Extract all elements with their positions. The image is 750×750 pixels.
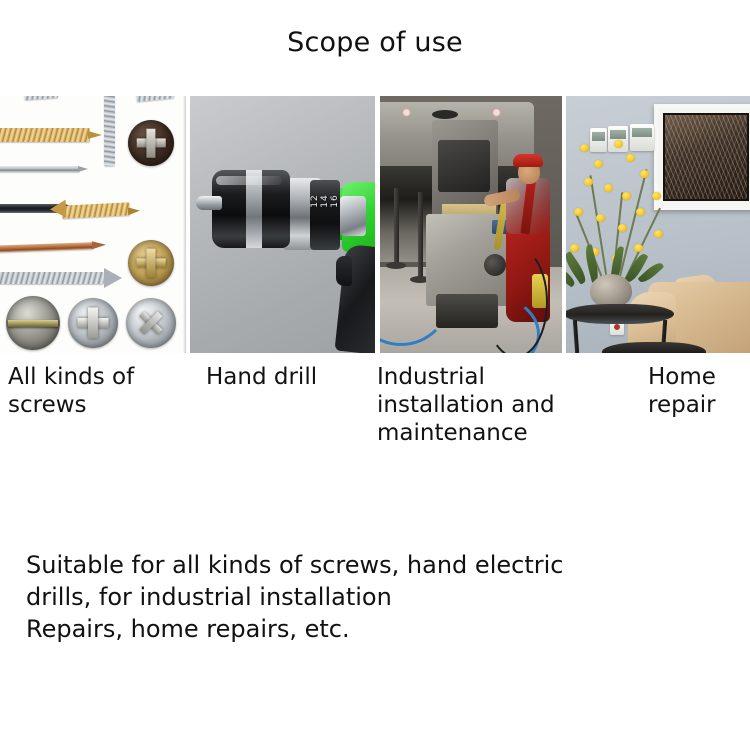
drill-torque-marks: 12 14 16 (310, 190, 340, 212)
caption-hand-drill: Hand drill (206, 363, 376, 391)
orchid-blossom (654, 230, 663, 238)
panel-all-kinds-of-screws (0, 96, 186, 353)
drum-indicator-right (492, 108, 501, 117)
drill-trigger (336, 256, 352, 286)
artwork-canvas (663, 113, 749, 201)
panel-home-repair (566, 96, 750, 353)
copper-nail-tip (92, 241, 106, 249)
drum-indicator-left (402, 108, 411, 117)
description-line-1: Suitable for all kinds of screws, hand e… (26, 549, 726, 581)
dark-phillips-screw-head (128, 120, 174, 166)
orchid-blossom (634, 244, 643, 252)
side-table-top (566, 304, 674, 324)
orchid-blossom (596, 214, 605, 222)
black-power-cable (484, 246, 548, 353)
silver-drywall-screw-shaft (0, 272, 104, 284)
panel-hand-drill: 12 14 16 (190, 96, 375, 353)
drill-bit-nose (196, 196, 222, 210)
description-block: Suitable for all kinds of screws, hand e… (26, 549, 726, 645)
orchid-blossom (614, 140, 623, 148)
wall-thermostat-left[interactable] (608, 126, 628, 152)
orchid-blossom (580, 144, 589, 152)
switch-screen (592, 132, 605, 141)
stone-vase (590, 274, 632, 308)
caption-all-kinds-of-screws: All kinds of screws (8, 363, 188, 419)
framed-artwork (654, 104, 750, 210)
silver-drywall-screw-head (104, 268, 122, 288)
slot-recess (8, 320, 58, 327)
brass-flat-head-screw-tip (128, 207, 140, 216)
thermostat-left-screen (610, 130, 626, 139)
orchid-blossom (626, 154, 635, 162)
panel-1-right-edge (183, 96, 186, 353)
brass-flat-head-screw-head (50, 200, 67, 219)
drill-chrome-housing (340, 196, 366, 236)
page-title: Scope of use (0, 26, 750, 60)
caption-industrial-installation-and-maintenance: Industrial installation and maintenance (377, 363, 577, 447)
gold-wood-screw-tip (88, 131, 102, 139)
artwork-fur-texture (665, 115, 747, 199)
nesting-table-top (602, 342, 706, 353)
caption-home-repair: Home repair (648, 363, 748, 419)
orchid-blossom (584, 178, 593, 186)
steel-phillips-screw-head (68, 298, 118, 348)
silver-nail-tip (78, 166, 88, 172)
copper-nail-shaft (0, 242, 94, 253)
orchid-blossom (618, 224, 627, 232)
panel-strip: 12 14 16 (0, 96, 750, 353)
worker-red-cap (513, 154, 543, 167)
screw-partial-top-left (24, 96, 59, 100)
orchid-blossom (636, 208, 645, 216)
vertical-silver-screw-shaft (104, 96, 115, 166)
wall-switch-plate[interactable] (590, 128, 607, 152)
orchid-blossom (622, 192, 631, 200)
brass-flat-head-screw-shaft (62, 202, 131, 219)
thermostat-right-screen (632, 128, 652, 137)
gold-wood-screw-shaft (0, 128, 90, 142)
industrial-machine-inner (438, 140, 490, 192)
drum-hole-left (432, 110, 458, 119)
description-line-3: Repairs, home repairs, etc. (26, 613, 726, 645)
orchid-blossom (604, 184, 613, 192)
orchid-blossom (652, 192, 661, 200)
wall-thermostat-right[interactable] (630, 124, 654, 151)
screw-partial-top-right (136, 96, 175, 102)
silver-nail-shaft (0, 166, 80, 172)
brass-phillips-screw-head (128, 240, 174, 286)
panel-industrial-installation (380, 96, 562, 353)
description-line-2: drills, for industrial installation (26, 581, 726, 613)
orchid-blossom (640, 170, 649, 178)
pozidriv-screw-head (126, 298, 176, 348)
slotted-screw-head (6, 296, 60, 350)
drill-chuck-highlight (216, 176, 282, 185)
orchid-blossom (594, 160, 603, 168)
orchid-blossom (574, 208, 583, 216)
orchid-blossom (570, 244, 579, 252)
